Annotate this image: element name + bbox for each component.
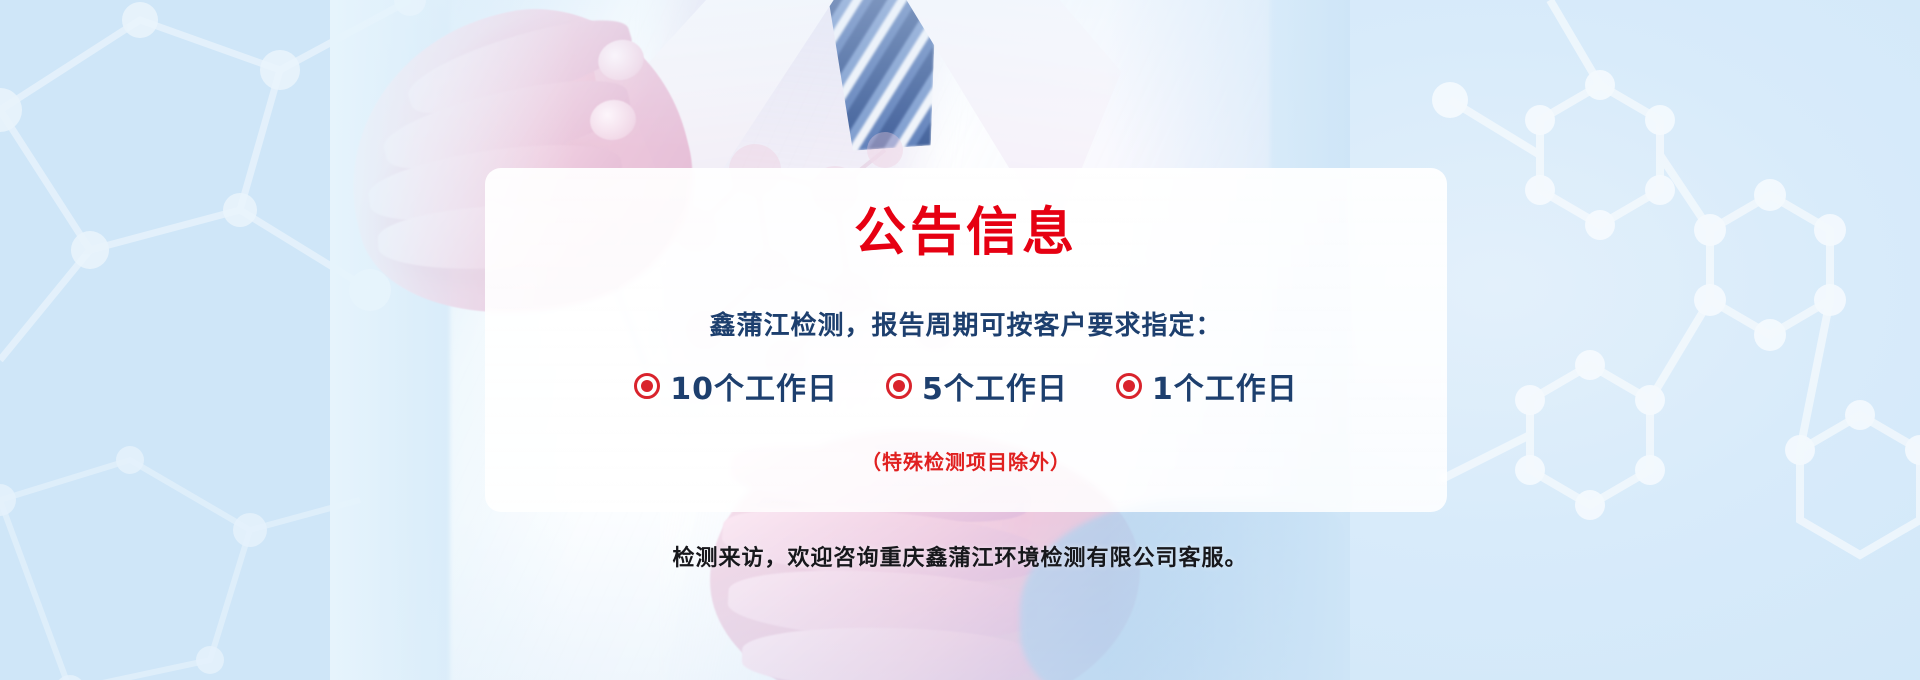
radio-selected-icon[interactable]	[634, 373, 660, 399]
radio-selected-icon[interactable]	[1116, 373, 1142, 399]
option-label: 5个工作日	[922, 364, 1068, 408]
footer-text: 检测来访，欢迎咨询重庆鑫蒲江环境检测有限公司客服。	[0, 540, 1920, 572]
announcement-card: 公告信息 鑫蒲江检测，报告周期可按客户要求指定： 10个工作日 5个工作日 1个…	[485, 168, 1447, 512]
card-subtitle: 鑫蒲江检测，报告周期可按客户要求指定：	[485, 305, 1447, 342]
option-label: 1个工作日	[1152, 364, 1298, 408]
option-5-working-days[interactable]: 5个工作日	[886, 364, 1068, 408]
turnaround-options: 10个工作日 5个工作日 1个工作日	[485, 364, 1447, 408]
card-note: （特殊检测项目除外）	[485, 446, 1447, 475]
option-1-working-day[interactable]: 1个工作日	[1116, 364, 1298, 408]
radio-selected-icon[interactable]	[886, 373, 912, 399]
page-title: 公告信息	[485, 190, 1447, 265]
announcement-banner: 公告信息 鑫蒲江检测，报告周期可按客户要求指定： 10个工作日 5个工作日 1个…	[0, 0, 1920, 680]
option-label: 10个工作日	[670, 364, 838, 408]
option-10-working-days[interactable]: 10个工作日	[634, 364, 838, 408]
